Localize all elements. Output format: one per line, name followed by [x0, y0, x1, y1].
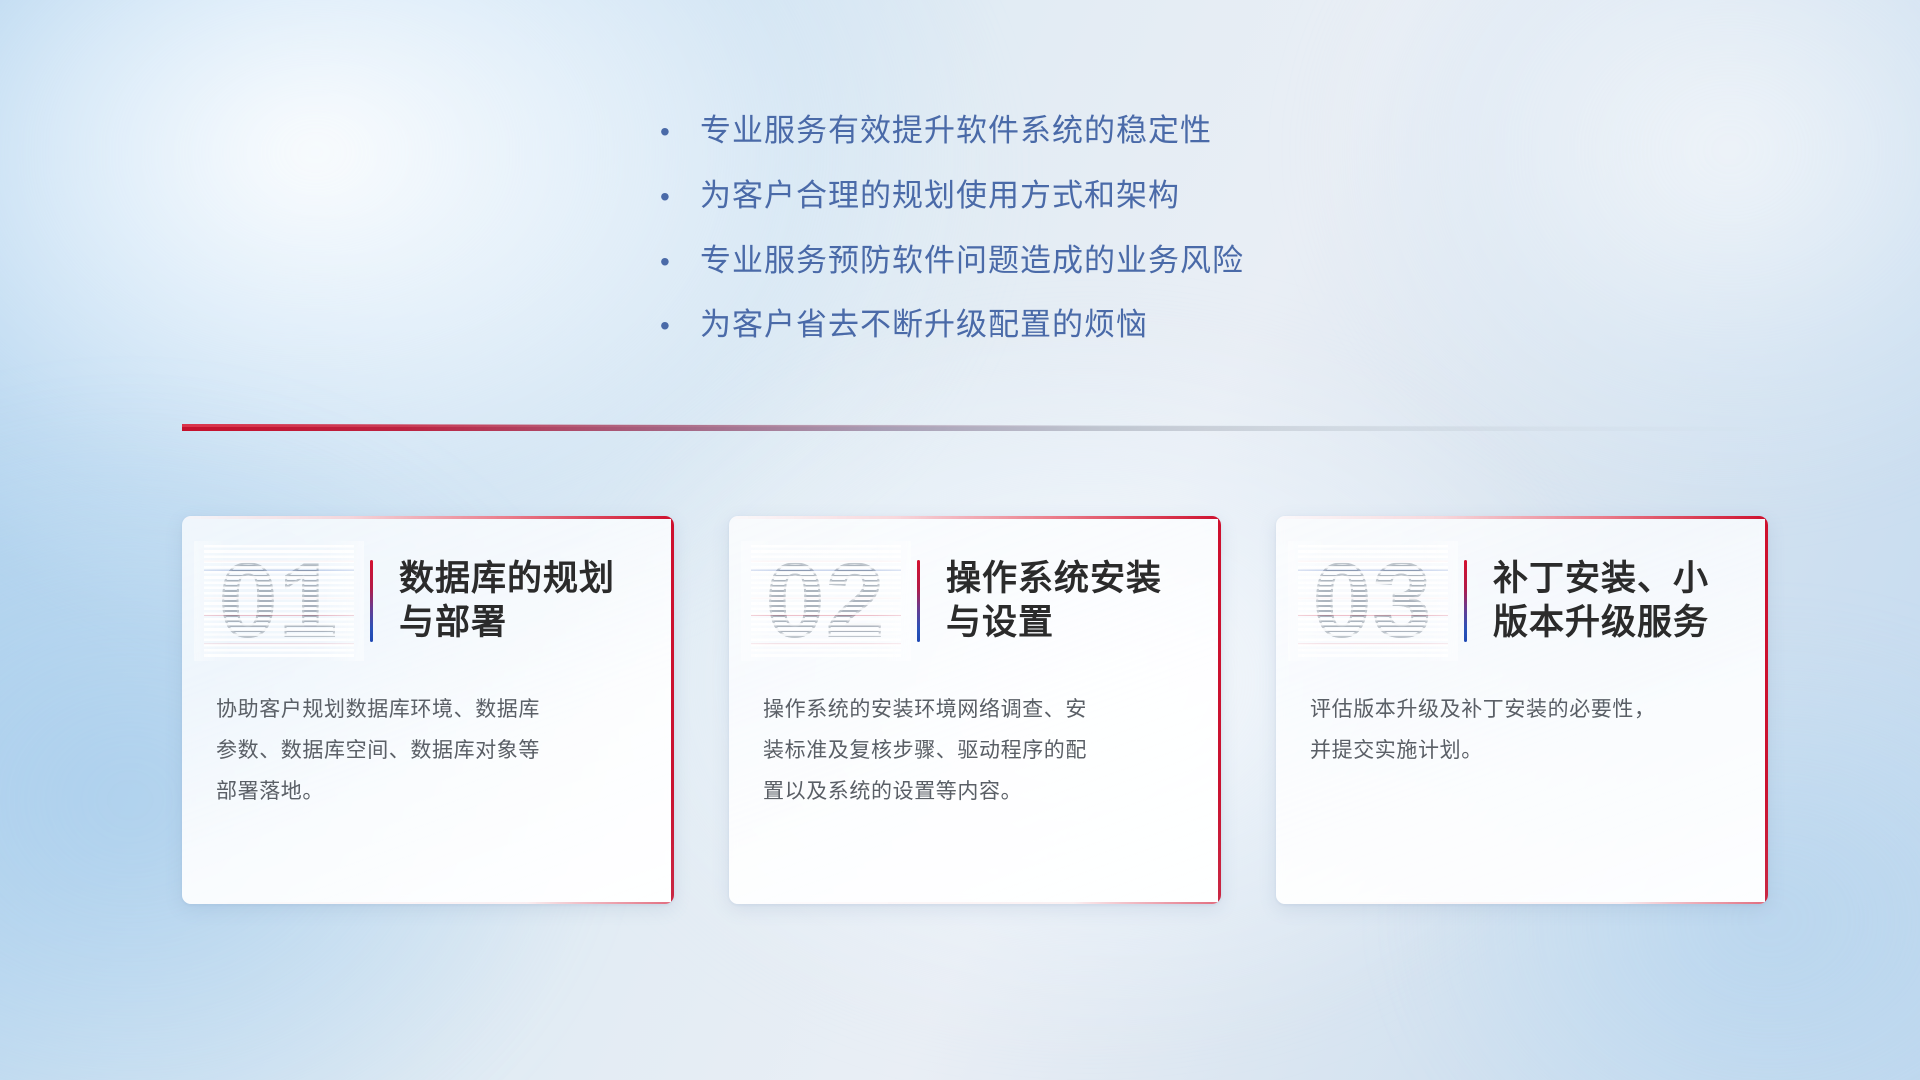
card-description-line: 并提交实施计划。 [1310, 731, 1734, 772]
bullet-marker-icon: • [660, 183, 700, 211]
list-item: • 专业服务有效提升软件系统的稳定性 [660, 112, 1380, 151]
list-item-label: 为客户省去不断升级配置的烦恼 [700, 306, 1148, 345]
list-item-label: 专业服务有效提升软件系统的稳定性 [700, 112, 1212, 151]
card-title: 操作系统安装 与设置 [946, 557, 1162, 646]
list-item-label: 为客户合理的规划使用方式和架构 [700, 177, 1180, 216]
card-bottom-accent [1276, 902, 1768, 904]
card-header: 03 补丁安装、小 版本升级服务 [1276, 516, 1768, 686]
list-item: • 专业服务预防软件问题造成的业务风险 [660, 242, 1380, 281]
card-header: 02 操作系统安装 与设置 [729, 516, 1221, 686]
card-title-rule [1464, 560, 1467, 642]
card-title: 数据库的规划 与部署 [399, 557, 615, 646]
card-description: 协助客户规划数据库环境、数据库 参数、数据库空间、数据库对象等 部署落地。 [182, 686, 674, 813]
card-title-rule [917, 560, 920, 642]
card-bottom-accent [729, 902, 1221, 904]
card-description-line: 操作系统的安装环境网络调查、安 [763, 690, 1187, 731]
slide-canvas: • 专业服务有效提升软件系统的稳定性 • 为客户合理的规划使用方式和架构 • 专… [0, 0, 1920, 1080]
card-number-watermark: 01 [204, 545, 354, 657]
card-title-line: 与设置 [946, 601, 1162, 645]
service-card-01[interactable]: 01 数据库的规划 与部署 协助客户规划数据库环境、数据库 参数、数据库空间、数… [182, 516, 674, 904]
benefits-bullet-list: • 专业服务有效提升软件系统的稳定性 • 为客户合理的规划使用方式和架构 • 专… [660, 112, 1380, 371]
list-item-label: 专业服务预防软件问题造成的业务风险 [700, 242, 1244, 281]
card-bottom-accent [182, 902, 674, 904]
card-title-rule [370, 560, 373, 642]
bullet-marker-icon: • [660, 312, 700, 340]
card-title-line: 与部署 [399, 601, 615, 645]
service-card-03[interactable]: 03 补丁安装、小 版本升级服务 评估版本升级及补丁安装的必要性， 并提交实施计… [1276, 516, 1768, 904]
bullet-marker-icon: • [660, 118, 700, 146]
card-number-label: 01 [204, 545, 354, 657]
card-description-line: 装标准及复核步骤、驱动程序的配 [763, 731, 1187, 772]
card-title-line: 版本升级服务 [1493, 601, 1709, 645]
card-description: 评估版本升级及补丁安装的必要性， 并提交实施计划。 [1276, 686, 1768, 772]
card-header: 01 数据库的规划 与部署 [182, 516, 674, 686]
card-description-line: 参数、数据库空间、数据库对象等 [216, 731, 640, 772]
card-description: 操作系统的安装环境网络调查、安 装标准及复核步骤、驱动程序的配 置以及系统的设置… [729, 686, 1221, 813]
section-divider [182, 424, 1772, 434]
service-card-02[interactable]: 02 操作系统安装 与设置 操作系统的安装环境网络调查、安 装标准及复核步骤、驱… [729, 516, 1221, 904]
card-title-line: 操作系统安装 [946, 557, 1162, 601]
service-card-group: 01 数据库的规划 与部署 协助客户规划数据库环境、数据库 参数、数据库空间、数… [182, 516, 1768, 906]
list-item: • 为客户省去不断升级配置的烦恼 [660, 306, 1380, 345]
card-title-line: 数据库的规划 [399, 557, 615, 601]
card-description-line: 协助客户规划数据库环境、数据库 [216, 690, 640, 731]
card-description-line: 部署落地。 [216, 772, 640, 813]
card-number-watermark: 03 [1298, 545, 1448, 657]
bullet-marker-icon: • [660, 248, 700, 276]
card-number-label: 03 [1298, 545, 1448, 657]
card-title: 补丁安装、小 版本升级服务 [1493, 557, 1709, 646]
divider-highlight [182, 424, 1772, 427]
card-title-line: 补丁安装、小 [1493, 557, 1709, 601]
card-description-line: 置以及系统的设置等内容。 [763, 772, 1187, 813]
card-number-label: 02 [751, 545, 901, 657]
list-item: • 为客户合理的规划使用方式和架构 [660, 177, 1380, 216]
card-number-watermark: 02 [751, 545, 901, 657]
card-description-line: 评估版本升级及补丁安装的必要性， [1310, 690, 1734, 731]
